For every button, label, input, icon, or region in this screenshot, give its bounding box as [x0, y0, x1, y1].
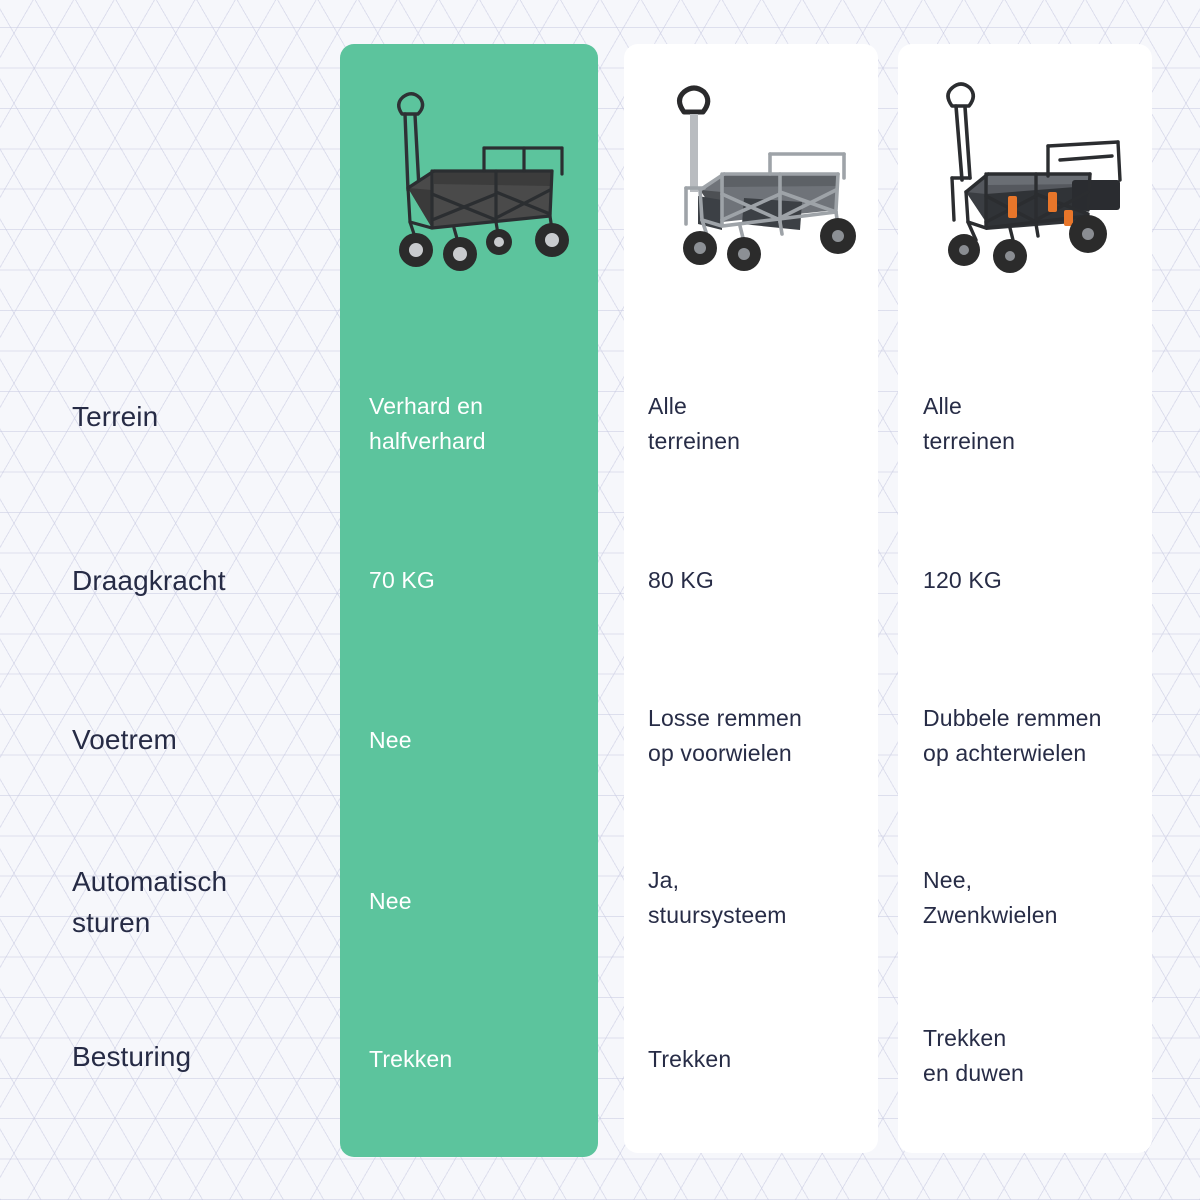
product-image-column-1 [372, 70, 587, 285]
cell-c3-terrein: Alle terreinen [923, 389, 1138, 459]
product-image-column-3 [922, 70, 1136, 285]
cell-c1-voetrem: Nee [369, 723, 584, 758]
cell-c2-draagkracht: 80 KG [648, 563, 863, 598]
cell-c2-automatisch-sturen: Ja, stuursysteem [648, 863, 863, 933]
cell-c3-draagkracht: 120 KG [923, 563, 1138, 598]
row-label-draagkracht: Draagkracht [72, 560, 226, 601]
product-image-column-2 [652, 70, 864, 285]
cell-c2-besturing: Trekken [648, 1042, 863, 1077]
row-label-voetrem: Voetrem [72, 719, 177, 760]
cell-c2-voetrem: Losse remmen op voorwielen [648, 701, 863, 771]
row-label-besturing: Besturing [72, 1036, 191, 1077]
cell-c1-draagkracht: 70 KG [369, 563, 584, 598]
cell-c3-besturing: Trekken en duwen [923, 1021, 1138, 1091]
row-label-automatisch-sturen: Automatisch sturen [72, 861, 227, 944]
row-label-terrein: Terrein [72, 396, 158, 437]
cell-c2-terrein: Alle terreinen [648, 389, 863, 459]
cell-c3-voetrem: Dubbele remmen op achterwielen [923, 701, 1138, 771]
cell-c1-terrein: Verhard en halfverhard [369, 389, 584, 459]
cell-c1-automatisch-sturen: Nee [369, 884, 584, 919]
cell-c3-automatisch-sturen: Nee, Zwenkwielen [923, 863, 1138, 933]
cell-c1-besturing: Trekken [369, 1042, 584, 1077]
